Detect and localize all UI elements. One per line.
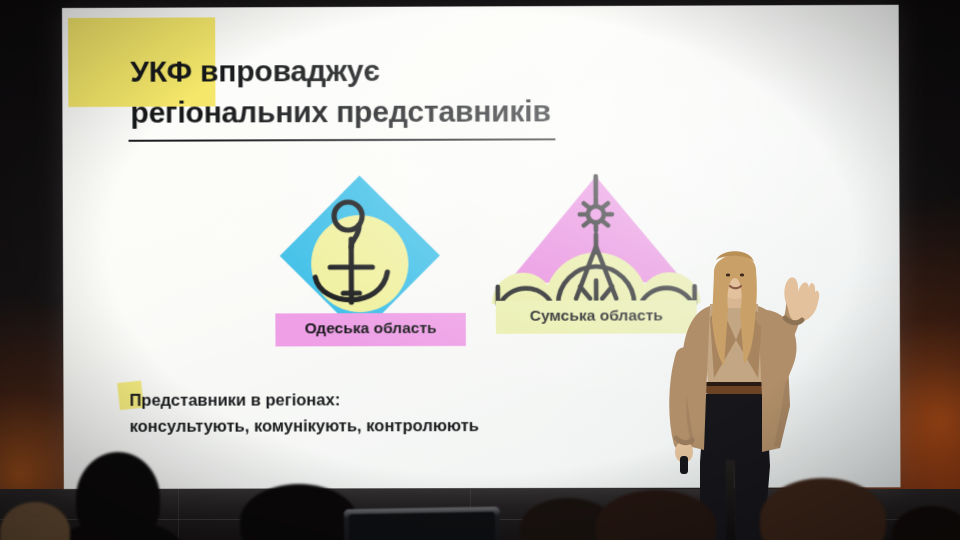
slide-note: Представники в регіонах: консультують, к… [129, 387, 650, 440]
audience-silhouette-1 [76, 452, 160, 540]
slide-title: УКФ впроваджує регіональних представникі… [130, 50, 772, 134]
odesa-label: Одеська область [275, 313, 466, 347]
audience-silhouette-4 [596, 490, 716, 540]
slide-title-line-1: УКФ впроваджує [130, 50, 772, 93]
stage-pole [726, 460, 735, 540]
audience-head [596, 490, 716, 540]
audience-head [0, 502, 70, 540]
audience-silhouette-2 [240, 484, 358, 540]
laptop-screen [349, 512, 496, 540]
stage-scene: УКФ впроваджує регіональних представникі… [0, 0, 960, 540]
slide-note-line-1: Представники в регіонах: [129, 387, 650, 414]
audience-head [892, 506, 960, 540]
audience-silhouette-6 [0, 502, 70, 540]
audience-silhouette-5 [760, 478, 886, 540]
slide-note-line-2: консультують, комунікують, контролюють [130, 413, 651, 440]
region-card-odesa: Одеська область [275, 189, 466, 352]
audience-head [760, 478, 886, 540]
wall-seam-vertical-1 [178, 489, 179, 540]
audience-head [240, 484, 358, 540]
slide-title-line-2: регіональних представників [130, 92, 551, 134]
audience-laptop [344, 507, 501, 540]
audience-silhouette-7 [892, 506, 960, 540]
